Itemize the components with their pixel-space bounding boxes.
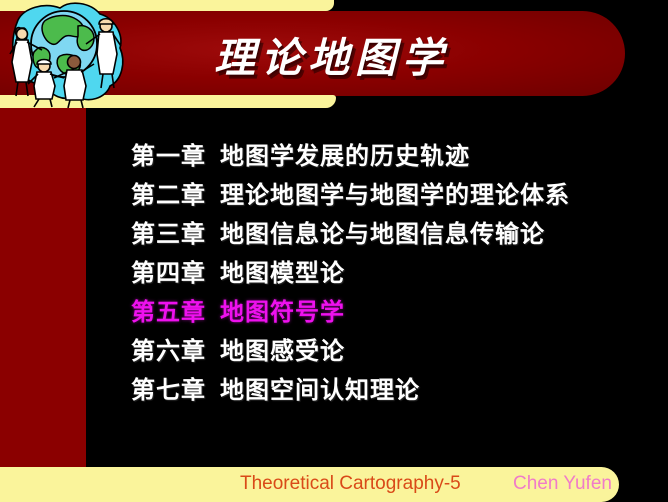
chapter-row[interactable]: 第三章 地图信息论与地图信息传输论 <box>131 214 651 253</box>
chapter-list: 第一章 地图学发展的历史轨迹 第二章 理论地图学与地图学的理论体系 第三章 地图… <box>131 136 651 409</box>
chapter-title: 地图符号学 <box>220 292 345 327</box>
footer-red-strip <box>0 455 86 467</box>
chapter-number: 第五章 <box>131 292 206 327</box>
globe-people-icon <box>2 0 132 108</box>
chapter-title: 地图信息论与地图信息传输论 <box>220 214 545 249</box>
footer-course-label: Theoretical Cartography-5 <box>240 473 461 495</box>
chapter-number: 第四章 <box>131 253 206 288</box>
chapter-row[interactable]: 第二章 理论地图学与地图学的理论体系 <box>131 175 651 214</box>
chapter-row[interactable]: 第六章 地图感受论 <box>131 331 651 370</box>
chapter-row[interactable]: 第七章 地图空间认知理论 <box>131 370 651 409</box>
chapter-title: 地图感受论 <box>220 331 345 366</box>
chapter-number: 第七章 <box>131 370 206 405</box>
chapter-row[interactable]: 第一章 地图学发展的历史轨迹 <box>131 136 651 175</box>
chapter-title: 理论地图学与地图学的理论体系 <box>220 175 570 210</box>
chapter-number: 第六章 <box>131 331 206 366</box>
slide-canvas: 理论地图学 <box>0 0 668 502</box>
footer-author-label: Chen Yufen <box>513 473 612 495</box>
chapter-number: 第一章 <box>131 136 206 171</box>
page-title: 理论地图学 <box>214 18 594 90</box>
chapter-title: 地图模型论 <box>220 253 345 288</box>
chapter-number: 第三章 <box>131 214 206 249</box>
chapter-title: 地图空间认知理论 <box>220 370 420 405</box>
chapter-title: 地图学发展的历史轨迹 <box>220 136 470 171</box>
chapter-row[interactable]: 第四章 地图模型论 <box>131 253 651 292</box>
chapter-number: 第二章 <box>131 175 206 210</box>
chapter-row-active[interactable]: 第五章 地图符号学 <box>131 292 651 331</box>
